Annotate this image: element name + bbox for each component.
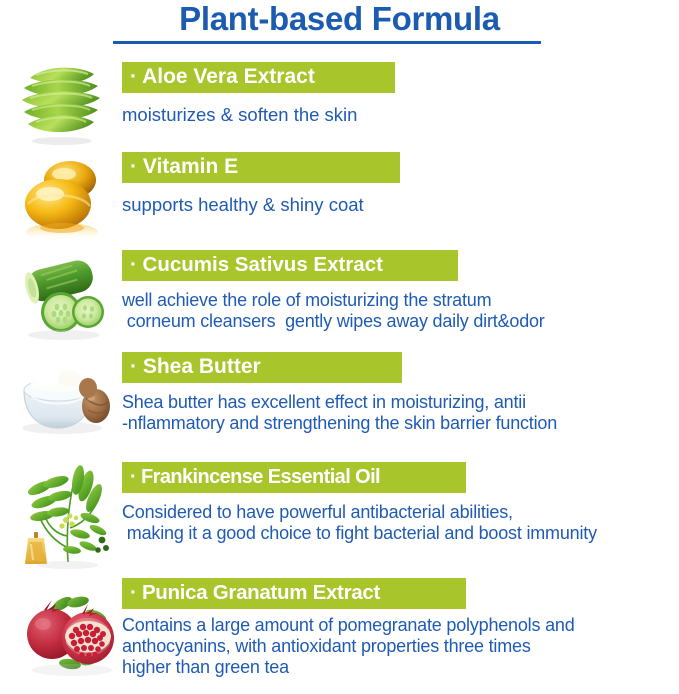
ingredient-description-frankincense: Considered to have powerful antibacteria… xyxy=(122,502,597,544)
ingredient-badge-shea-butter: · Shea Butter xyxy=(122,352,402,383)
ingredient-badge-aloe-vera: · Aloe Vera Extract xyxy=(122,62,395,93)
badge-bullet: · xyxy=(130,253,143,276)
cucumis-sativus-content: · Cucumis Sativus Extract well achieve t… xyxy=(122,250,545,332)
frankincense-branch-and-oil-bottle-image xyxy=(20,462,116,570)
ingredient-badge-vitamin-e: · Vitamin E xyxy=(122,152,400,183)
ingredient-description-vitamin-e: supports healthy & shiny coat xyxy=(122,194,400,216)
badge-label: Cucumis Sativus Extract xyxy=(143,253,383,276)
spacer xyxy=(122,493,597,502)
page-title-container: Plant-based Formula xyxy=(0,2,679,37)
cucumber-slices-image xyxy=(14,250,114,342)
spacer xyxy=(122,183,400,194)
badge-bullet: · xyxy=(130,355,143,378)
badge-bullet: · xyxy=(130,155,143,178)
ingredient-description-punica-granatum: Contains a large amount of pomegranate p… xyxy=(122,615,575,678)
pomegranate-whole-and-halved-image xyxy=(16,578,122,688)
aloe-vera-slices-image xyxy=(14,62,110,148)
ingredient-badge-frankincense: · Frankincense Essential Oil xyxy=(122,462,466,493)
vitamin-e-softgel-capsules-image xyxy=(14,152,110,246)
aloe-vera-content: · Aloe Vera Extract moisturizes & soften… xyxy=(122,62,395,126)
ingredient-badge-cucumis-sativus: · Cucumis Sativus Extract xyxy=(122,250,458,281)
badge-label: Frankincense Essential Oil xyxy=(141,466,380,488)
spacer xyxy=(122,383,557,392)
ingredient-description-shea-butter: Shea butter has excellent effect in mois… xyxy=(122,392,557,434)
spacer xyxy=(122,281,545,290)
ingredient-badge-punica-granatum: · Punica Granatum Extract xyxy=(122,578,466,609)
infographic-page: Plant-based Formula xyxy=(0,0,679,694)
shea-butter-bowl-and-nuts-image xyxy=(14,352,118,442)
badge-label: Vitamin E xyxy=(143,155,238,178)
vitamin-e-content: · Vitamin E supports healthy & shiny coa… xyxy=(122,152,400,216)
ingredient-description-aloe-vera: moisturizes & soften the skin xyxy=(122,104,395,126)
badge-bullet: · xyxy=(130,581,142,604)
badge-label: Aloe Vera Extract xyxy=(142,65,315,88)
badge-label: Shea Butter xyxy=(143,355,261,378)
ingredient-description-cucumis-sativus: well achieve the role of moisturizing th… xyxy=(122,290,545,332)
badge-bullet: · xyxy=(130,466,141,488)
badge-bullet: · xyxy=(130,65,142,88)
shea-butter-content: · Shea Butter Shea butter has excellent … xyxy=(122,352,557,434)
spacer xyxy=(122,93,395,104)
page-title: Plant-based Formula xyxy=(179,2,500,37)
badge-label: Punica Granatum Extract xyxy=(142,581,380,604)
punica-granatum-content: · Punica Granatum Extract Contains a lar… xyxy=(122,578,575,678)
title-underline-divider xyxy=(113,41,541,44)
frankincense-content: · Frankincense Essential Oil Considered … xyxy=(122,462,597,544)
